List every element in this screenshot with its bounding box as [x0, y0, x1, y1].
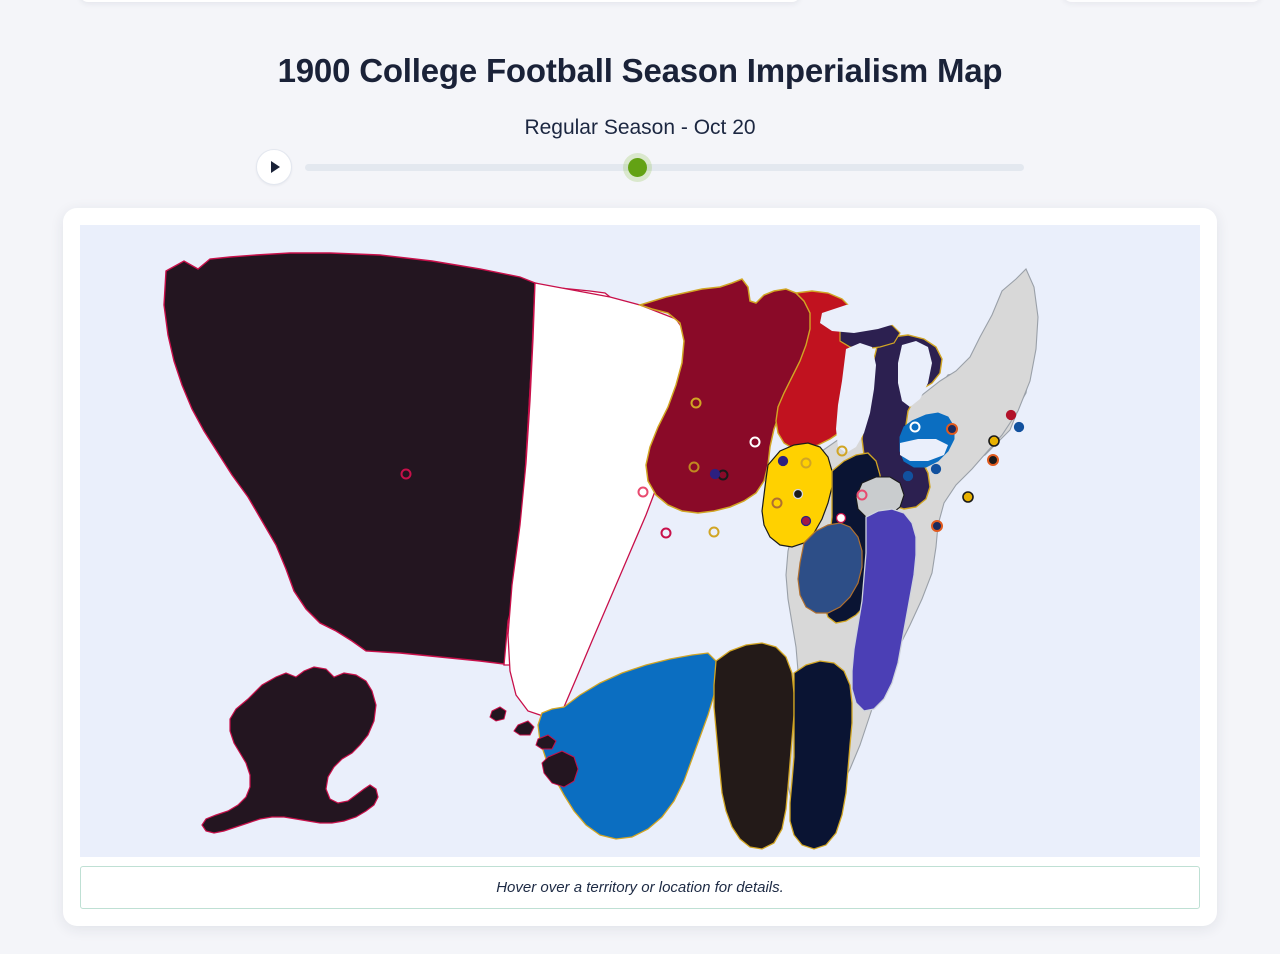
location-marker-syracuse[interactable] — [947, 424, 957, 434]
imperialism-map-page: 1900 College Football Season Imperialism… — [0, 0, 1280, 954]
territory-mississippi-dark[interactable] — [714, 643, 794, 849]
location-marker-new-haven[interactable] — [989, 436, 999, 446]
map-card: Hover over a territory or location for d… — [63, 208, 1217, 926]
territory-alaska[interactable] — [202, 667, 378, 833]
location-marker-virginia[interactable] — [932, 521, 942, 531]
location-marker-chicago[interactable] — [779, 457, 788, 466]
play-button[interactable] — [256, 149, 292, 185]
location-marker-iowa-3[interactable] — [710, 528, 719, 537]
play-icon — [271, 161, 280, 173]
location-marker-boston-red[interactable] — [1007, 411, 1016, 420]
map-canvas[interactable] — [80, 225, 1200, 857]
top-card-fragment-left — [80, 0, 800, 2]
page-title: 1900 College Football Season Imperialism… — [0, 52, 1280, 90]
usa-territory-map[interactable] — [80, 225, 1200, 857]
hover-detail-bar: Hover over a territory or location for d… — [80, 866, 1200, 909]
location-marker-princeton[interactable] — [988, 455, 998, 465]
hover-hint-text: Hover over a territory or location for d… — [496, 879, 784, 896]
timeline-controls — [256, 148, 1024, 186]
season-date-subtitle: Regular Season - Oct 20 — [0, 116, 1280, 140]
territory-west-dark[interactable] — [164, 253, 535, 665]
location-marker-ohio-black[interactable] — [794, 490, 803, 499]
location-marker-nashville[interactable] — [837, 514, 846, 523]
slider-thumb[interactable] — [628, 158, 647, 177]
location-marker-kentucky[interactable] — [802, 517, 811, 526]
timeline-slider[interactable] — [305, 152, 1024, 182]
slider-track — [305, 164, 1024, 171]
location-marker-pennsylvania-2[interactable] — [932, 465, 941, 474]
top-card-fragment-right — [1062, 0, 1262, 2]
location-marker-plains-2[interactable] — [662, 529, 671, 538]
location-marker-baltimore[interactable] — [963, 492, 973, 502]
location-marker-iowa-1[interactable] — [711, 470, 720, 479]
territory-alabama-navy[interactable] — [790, 661, 852, 849]
location-marker-pennsylvania-1[interactable] — [904, 472, 913, 481]
location-marker-boston-blue[interactable] — [1015, 423, 1024, 432]
